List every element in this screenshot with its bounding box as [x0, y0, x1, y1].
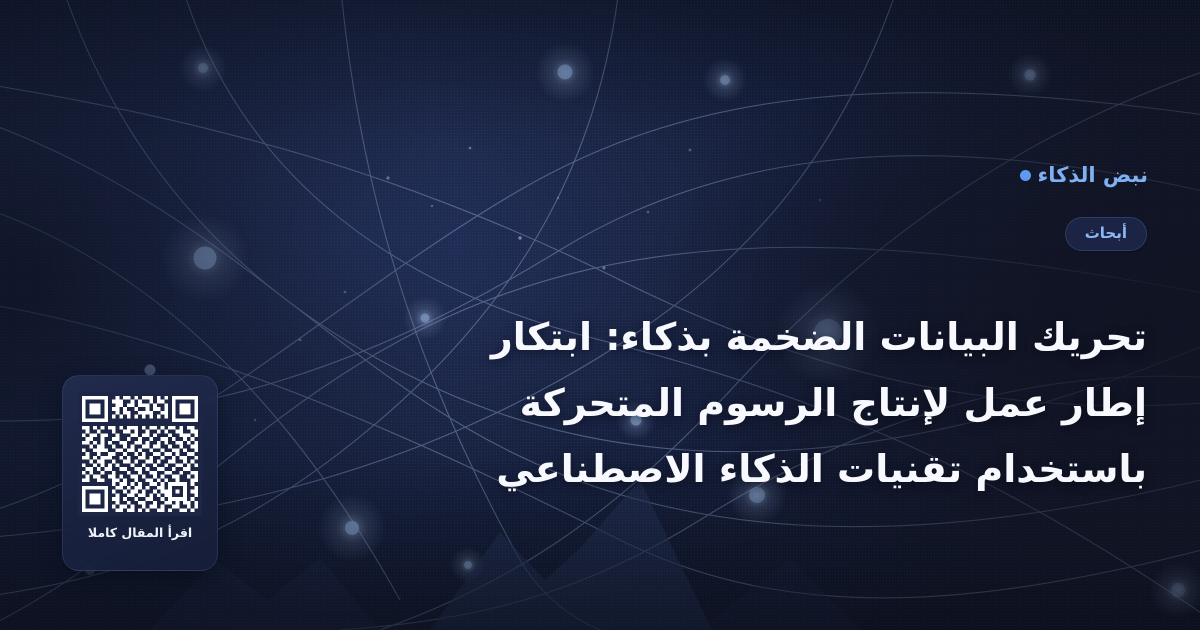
- social-share-card: نبض الذكاء أبحاث تحريك البيانات الضخمة ب…: [0, 0, 1200, 630]
- card-content: نبض الذكاء أبحاث تحريك البيانات الضخمة ب…: [0, 0, 1200, 630]
- qr-code-icon[interactable]: [78, 392, 202, 516]
- page-title: تحريك البيانات الضخمة بذكاء: ابتكار إطار…: [477, 304, 1147, 502]
- brand: نبض الذكاء: [1020, 163, 1148, 187]
- category-badge: أبحاث: [1065, 217, 1147, 251]
- qr-card[interactable]: اقرأ المقال كاملا: [62, 375, 218, 571]
- brand-name: نبض الذكاء: [1038, 163, 1148, 187]
- qr-caption: اقرأ المقال كاملا: [88, 527, 192, 540]
- bullet-dot-icon: [1020, 170, 1031, 181]
